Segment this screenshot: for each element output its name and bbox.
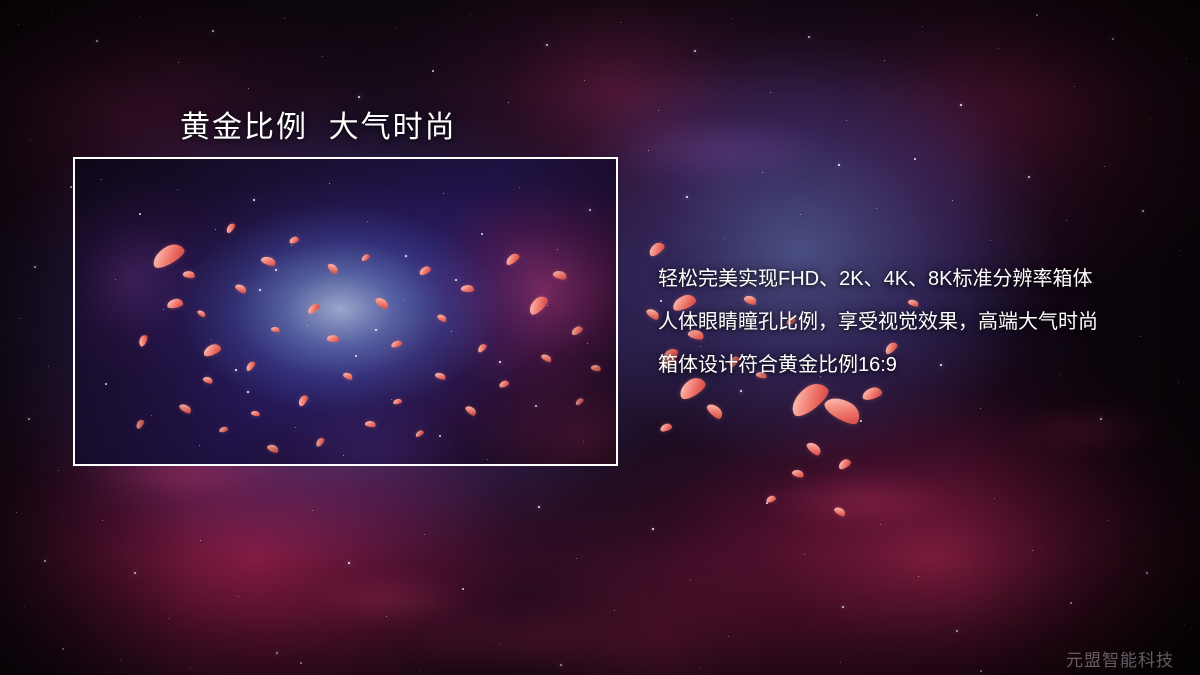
star-dot xyxy=(686,196,688,198)
star-dot xyxy=(914,158,916,160)
star-dot xyxy=(28,418,30,420)
rose-petal xyxy=(647,240,667,258)
star-dot xyxy=(30,140,31,141)
body-line-2: 人体眼睛瞳孔比例，享受视觉效果，高端大气时尚 xyxy=(658,301,1168,344)
star-dot xyxy=(190,668,191,669)
star-dot xyxy=(462,588,464,590)
star-dot xyxy=(44,560,46,562)
star-dot xyxy=(16,512,17,513)
rose-petal xyxy=(659,422,672,432)
star-dot xyxy=(432,70,434,72)
rose-petal xyxy=(861,386,883,402)
star-dot xyxy=(846,120,847,121)
star-dot xyxy=(990,240,991,241)
star-dot xyxy=(500,644,501,645)
star-dot xyxy=(276,652,278,654)
star-dot xyxy=(102,520,103,521)
star-dot xyxy=(620,22,621,23)
star-dot xyxy=(420,670,421,671)
star-dot xyxy=(560,664,562,666)
star-dot xyxy=(62,648,64,650)
star-dot xyxy=(1108,520,1109,521)
star-dot xyxy=(96,40,98,42)
star-dot xyxy=(1178,382,1179,383)
star-dot xyxy=(980,408,981,409)
star-dot xyxy=(1036,14,1038,16)
star-dot xyxy=(960,104,962,106)
star-dot xyxy=(652,528,654,530)
star-dot xyxy=(808,36,810,38)
star-dot xyxy=(396,28,397,29)
star-dot xyxy=(386,616,387,617)
star-dot xyxy=(884,60,885,61)
rose-petal xyxy=(705,401,725,421)
rose-petal xyxy=(837,457,852,470)
body-line-3: 箱体设计符合黄金比例16:9 xyxy=(658,344,1168,387)
star-dot xyxy=(994,498,995,499)
star-dot xyxy=(732,18,733,19)
star-dot xyxy=(740,390,742,392)
star-dot xyxy=(178,62,179,63)
star-dot xyxy=(134,572,136,574)
framed-photo xyxy=(73,157,618,466)
star-dot xyxy=(762,172,763,173)
rose-petal xyxy=(833,505,847,518)
body-line-1: 轻松完美实现FHD、2K、4K、8K标准分辨率箱体 xyxy=(658,258,1168,301)
star-dot xyxy=(842,606,844,608)
star-dot xyxy=(766,502,768,504)
star-dot xyxy=(1186,58,1187,59)
star-dot xyxy=(1066,220,1067,221)
star-dot xyxy=(956,630,958,632)
slide-canvas: 黄金比例 大气时尚 轻松完美实现FHD、2K、4K、8K标准分辨率箱体 人体眼睛… xyxy=(0,0,1200,675)
star-dot xyxy=(18,24,19,25)
star-dot xyxy=(312,510,313,511)
star-dot xyxy=(200,540,201,541)
star-dot xyxy=(658,110,659,111)
star-dot xyxy=(140,16,141,17)
star-dot xyxy=(1146,572,1148,574)
star-dot xyxy=(70,186,72,188)
star-dot xyxy=(838,164,840,166)
star-dot xyxy=(546,44,548,46)
star-dot xyxy=(922,26,923,27)
star-dot xyxy=(1100,418,1102,420)
star-dot xyxy=(34,266,36,268)
star-dot xyxy=(804,554,805,555)
star-dot xyxy=(508,102,509,103)
star-dot xyxy=(1028,176,1030,178)
star-dot xyxy=(212,30,214,32)
star-dot xyxy=(322,56,323,57)
star-dot xyxy=(880,524,881,525)
rose-petal xyxy=(805,440,823,458)
star-dot xyxy=(800,214,801,215)
star-dot xyxy=(840,662,841,663)
watermark-label: 元盟智能科技 xyxy=(1066,646,1174,671)
star-dot xyxy=(1150,118,1151,119)
star-dot xyxy=(1104,166,1105,167)
star-dot xyxy=(648,150,649,151)
star-dot xyxy=(952,200,953,201)
star-dot xyxy=(860,420,862,422)
star-dot xyxy=(998,48,999,49)
star-dot xyxy=(876,208,877,209)
star-dot xyxy=(1142,210,1144,212)
rose-petal xyxy=(791,468,805,479)
star-dot xyxy=(20,318,21,319)
photo-vignette xyxy=(75,159,616,464)
star-dot xyxy=(918,576,919,577)
star-dot xyxy=(770,92,771,93)
star-dot xyxy=(358,96,360,98)
star-dot xyxy=(576,558,577,559)
star-dot xyxy=(348,562,350,564)
star-dot xyxy=(728,636,729,637)
rose-petal xyxy=(765,495,776,504)
slide-title: 黄金比例 大气时尚 xyxy=(180,102,457,146)
rose-petal xyxy=(822,391,865,428)
star-dot xyxy=(584,80,585,81)
star-dot xyxy=(538,506,540,508)
star-dot xyxy=(1184,624,1185,625)
star-dot xyxy=(300,662,302,664)
star-dot xyxy=(1112,38,1114,40)
star-dot xyxy=(52,10,53,11)
star-dot xyxy=(694,50,696,52)
star-dot xyxy=(248,88,249,89)
star-dot xyxy=(980,670,982,672)
star-dot xyxy=(424,534,425,535)
star-dot xyxy=(724,238,725,239)
star-dot xyxy=(24,606,25,607)
body-text-block: 轻松完美实现FHD、2K、4K、8K标准分辨率箱体 人体眼睛瞳孔比例，享受视觉效… xyxy=(658,258,1168,387)
star-dot xyxy=(1180,250,1181,251)
star-dot xyxy=(58,470,59,471)
star-dot xyxy=(470,14,471,15)
star-dot xyxy=(284,18,285,19)
star-dot xyxy=(1074,86,1075,87)
star-dot xyxy=(1070,602,1072,604)
star-dot xyxy=(168,618,169,619)
star-dot xyxy=(120,660,121,661)
star-dot xyxy=(700,668,701,669)
star-dot xyxy=(690,580,691,581)
star-dot xyxy=(1032,550,1033,551)
star-dot xyxy=(614,610,615,611)
star-dot xyxy=(238,596,239,597)
star-dot xyxy=(48,366,49,367)
